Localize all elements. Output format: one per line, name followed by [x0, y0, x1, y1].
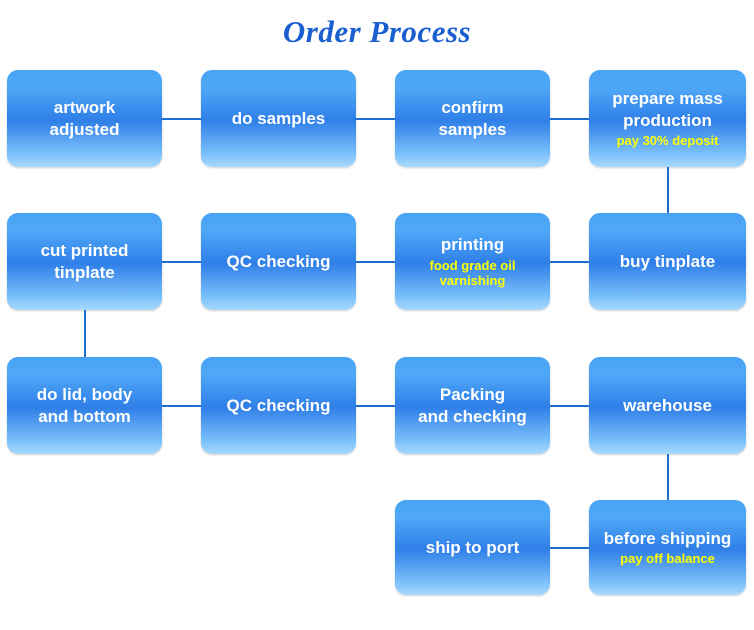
- node-qc-checking-1[interactable]: QC checking: [201, 213, 356, 310]
- connector-packing-to-warehouse: [550, 405, 589, 407]
- page-title: Order Process: [0, 14, 754, 50]
- connector-buy-tinplate-to-printing: [550, 261, 589, 263]
- node-packing-and-checking[interactable]: Packing and checking: [395, 357, 550, 454]
- connector-do-lid-to-qc2: [162, 405, 201, 407]
- node-label: Packing and checking: [418, 384, 527, 427]
- connector-printing-to-qc1: [356, 261, 395, 263]
- node-label: prepare mass production: [612, 88, 723, 131]
- node-before-shipping[interactable]: before shipping pay off balance: [589, 500, 746, 595]
- node-sublabel: pay off balance: [620, 551, 715, 567]
- connector-warehouse-to-before-shipping: [667, 454, 669, 500]
- node-sublabel: pay 30% deposit: [617, 133, 719, 149]
- connector-confirm-to-prepare: [550, 118, 589, 120]
- node-label: artwork adjusted: [50, 97, 120, 140]
- connector-qc1-to-cut-tinplate: [162, 261, 201, 263]
- node-do-samples[interactable]: do samples: [201, 70, 356, 167]
- node-label: buy tinplate: [620, 251, 715, 272]
- node-label: confirm samples: [438, 97, 506, 140]
- connector-samples-to-confirm: [356, 118, 395, 120]
- node-confirm-samples[interactable]: confirm samples: [395, 70, 550, 167]
- connector-prepare-to-buy-tinplate: [667, 167, 669, 213]
- node-artwork-adjusted[interactable]: artwork adjusted: [7, 70, 162, 167]
- node-sublabel: food grade oil varnishing: [430, 258, 516, 289]
- node-warehouse[interactable]: warehouse: [589, 357, 746, 454]
- node-label: QC checking: [227, 395, 331, 416]
- node-label: printing: [441, 234, 504, 255]
- node-label: QC checking: [227, 251, 331, 272]
- node-buy-tinplate[interactable]: buy tinplate: [589, 213, 746, 310]
- node-printing[interactable]: printing food grade oil varnishing: [395, 213, 550, 310]
- node-cut-printed-tinplate[interactable]: cut printed tinplate: [7, 213, 162, 310]
- node-label: warehouse: [623, 395, 712, 416]
- node-ship-to-port[interactable]: ship to port: [395, 500, 550, 595]
- node-prepare-mass-production[interactable]: prepare mass production pay 30% deposit: [589, 70, 746, 167]
- connector-artwork-to-samples: [162, 118, 201, 120]
- node-label: do lid, body and bottom: [37, 384, 132, 427]
- connector-qc2-to-packing: [356, 405, 395, 407]
- connector-cut-tinplate-to-do-lid: [84, 310, 86, 357]
- flowchart-canvas: Order Process artwork adjusted do sample…: [0, 0, 754, 630]
- node-label: before shipping: [604, 528, 732, 549]
- node-label: cut printed tinplate: [41, 240, 129, 283]
- connector-before-shipping-to-ship-to-port: [550, 547, 589, 549]
- node-do-lid-body-and-bottom[interactable]: do lid, body and bottom: [7, 357, 162, 454]
- node-label: ship to port: [426, 537, 519, 558]
- node-qc-checking-2[interactable]: QC checking: [201, 357, 356, 454]
- node-label: do samples: [232, 108, 326, 129]
